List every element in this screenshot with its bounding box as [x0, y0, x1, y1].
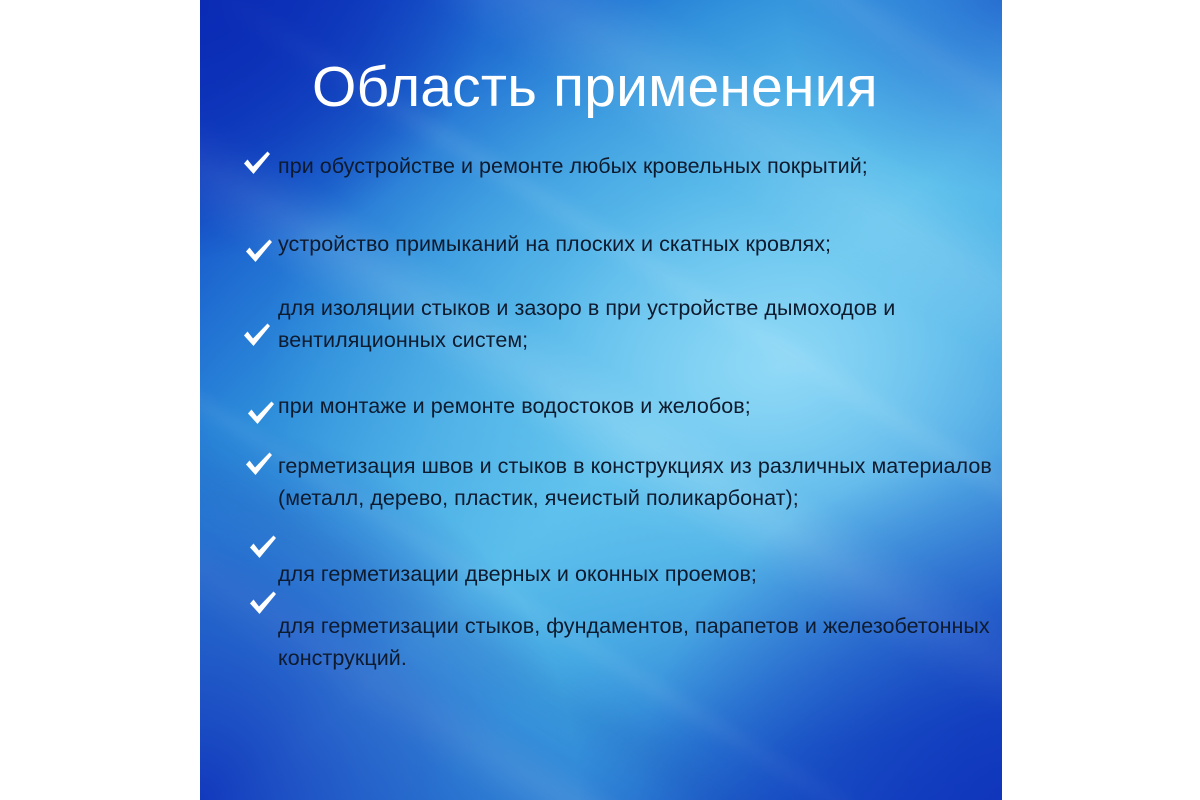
slide-background-panel: Область применения при обустройстве и ре… — [200, 0, 1002, 800]
list-item-label: для герметизации стыков, фундаментов, па… — [278, 610, 1002, 674]
list-item-label: герметизация швов и стыков в конструкция… — [278, 450, 1002, 514]
slide-content: Область применения при обустройстве и ре… — [200, 0, 1002, 800]
check-icon — [240, 146, 274, 180]
list-item: устройство примыканий на плоских и скатн… — [240, 228, 1002, 260]
list-item: для герметизации дверных и оконных проем… — [240, 558, 1002, 590]
slide-root: Область применения при обустройстве и ре… — [0, 0, 1200, 800]
list-item-label: для герметизации дверных и оконных проем… — [278, 558, 1002, 590]
check-icon — [246, 586, 280, 620]
list-item: для герметизации стыков, фундаментов, па… — [240, 610, 1002, 674]
list-item-label: устройство примыканий на плоских и скатн… — [278, 228, 1002, 260]
check-icon — [240, 318, 274, 352]
page-title: Область применения — [312, 58, 972, 118]
check-icon — [246, 530, 280, 564]
list-item-label: для изоляции стыков и зазоро в при устро… — [278, 292, 1002, 356]
check-icon — [242, 447, 276, 481]
list-item: при монтаже и ремонте водостоков и желоб… — [240, 390, 1002, 422]
list-item-label: при монтаже и ремонте водостоков и желоб… — [278, 390, 1002, 422]
list-item: при обустройстве и ремонте любых кровель… — [240, 150, 1002, 182]
list-item-label: при обустройстве и ремонте любых кровель… — [278, 150, 1002, 182]
check-icon — [244, 396, 278, 430]
check-icon — [242, 234, 276, 268]
list-item: для изоляции стыков и зазоро в при устро… — [240, 292, 1002, 356]
list-item: герметизация швов и стыков в конструкция… — [240, 450, 1002, 514]
